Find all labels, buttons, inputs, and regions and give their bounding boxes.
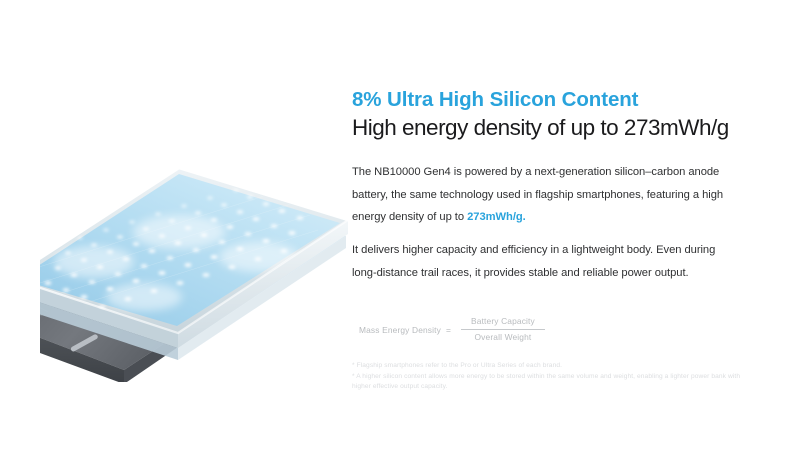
product-image [40, 16, 385, 466]
footnote-1: * Flagship smartphones refer to the Pro … [352, 361, 752, 372]
mass-energy-density-formula: Mass Energy Density = Battery Capacity O… [359, 314, 545, 345]
formula-denominator: Overall Weight [465, 330, 542, 345]
product-feature-slide: 8% Ultra High Silicon Content High energ… [0, 0, 800, 450]
page-title: High energy density of up to 273mWh/g [352, 115, 729, 141]
paragraph-1-text: The NB10000 Gen4 is powered by a next-ge… [352, 166, 723, 223]
footnotes: * Flagship smartphones refer to the Pro … [352, 361, 752, 393]
formula-equals-sign: = [446, 325, 451, 335]
content-column: 8% Ultra High Silicon Content High energ… [352, 0, 772, 450]
body-paragraph-2: It delivers higher capacity and efficien… [352, 239, 742, 284]
formula-fraction: Battery Capacity Overall Weight [461, 314, 545, 345]
battery-cell-illustration [40, 112, 385, 382]
eyebrow-heading: 8% Ultra High Silicon Content [352, 88, 638, 112]
energy-density-highlight: 273mWh/g. [467, 211, 526, 223]
formula-label: Mass Energy Density [359, 325, 441, 335]
footnote-2: * A higher silicon content allows more e… [352, 372, 750, 393]
body-paragraph-1: The NB10000 Gen4 is powered by a next-ge… [352, 161, 754, 229]
formula-numerator: Battery Capacity [461, 314, 545, 329]
